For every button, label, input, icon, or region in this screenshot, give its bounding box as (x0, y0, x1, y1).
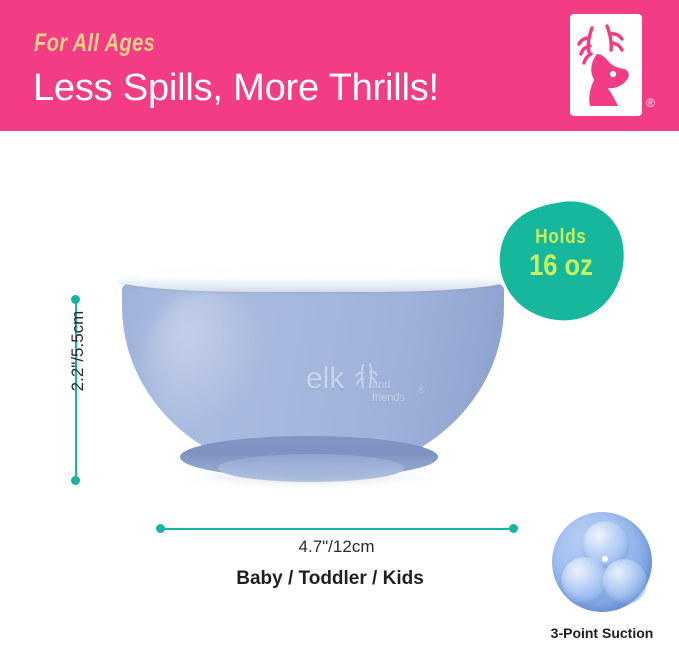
brand-registered-mark: ® (646, 97, 655, 109)
capacity-amount: 16 oz (507, 249, 614, 283)
suction-cup-left (561, 557, 608, 604)
suction-cup-right (602, 559, 647, 604)
bowl-embossed-brand: elk and friends ® (306, 364, 446, 420)
suction-base-disc (552, 512, 652, 612)
three-point-suction-base: 3-Point Suction (548, 512, 656, 642)
audience-caption: Baby / Toddler / Kids (120, 567, 540, 591)
vertical-dimension-dot-bottom (71, 476, 80, 485)
bowl-highlight (146, 292, 266, 432)
horizontal-dimension-dot-right (509, 524, 518, 533)
product-infographic: For All Ages Less Spills, More Thrills! (0, 0, 679, 656)
suction-bowl-product-image: elk and friends ® (118, 268, 508, 493)
capacity-label: Holds (507, 226, 614, 248)
header-eyebrow: For All Ages (34, 29, 155, 57)
emboss-registered-mark: ® (418, 386, 425, 395)
emboss-and-text: and (372, 380, 390, 391)
suction-center-highlight (602, 556, 608, 562)
header-headline: Less Spills, More Thrills! (33, 65, 439, 111)
bowl-lid (118, 268, 508, 292)
horizontal-dimension-dot-left (156, 524, 165, 533)
horizontal-dimension-line (160, 528, 513, 530)
width-dimension-label: 4.7"/12cm (160, 536, 513, 558)
capacity-badge: Holds 16 oz (498, 200, 624, 322)
bowl-drop-shadow (182, 468, 438, 486)
product-stage: elk and friends ® (0, 131, 679, 656)
suction-label: 3-Point Suction (538, 624, 666, 642)
header-banner: For All Ages Less Spills, More Thrills! (0, 0, 679, 131)
emboss-friends-text: friends (372, 393, 405, 404)
height-dimension-label: 2.2"/5.5cm (68, 301, 88, 401)
emboss-brand-text: elk (306, 362, 344, 395)
elk-head-antlers-logo (570, 14, 642, 116)
lid-highlight (134, 271, 486, 279)
